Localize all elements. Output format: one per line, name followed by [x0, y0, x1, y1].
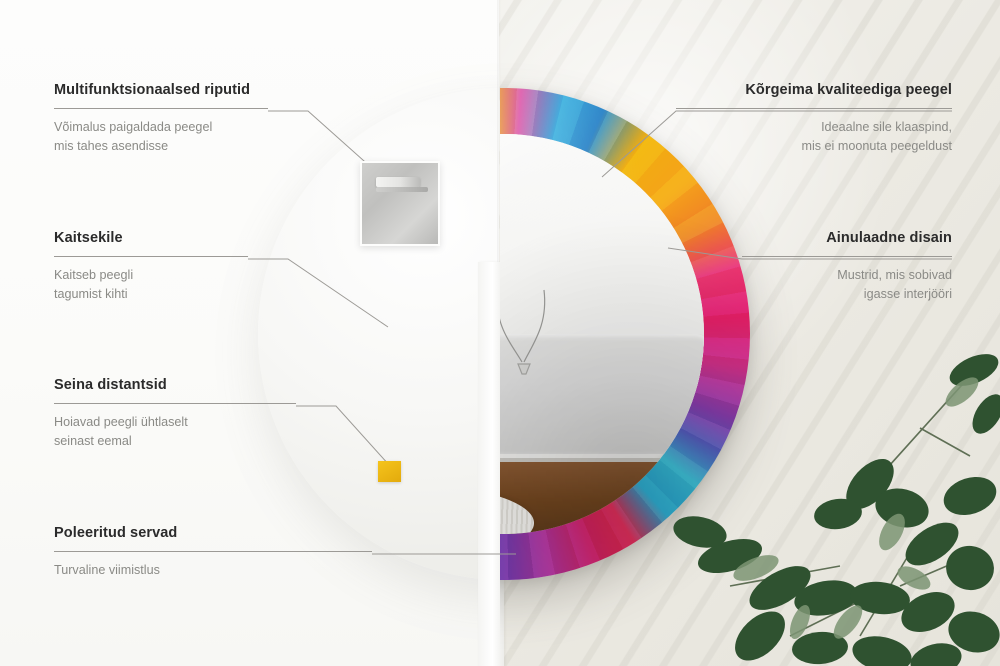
callout-ainulaadne-disain: Ainulaadne disain Mustrid, mis sobivad i… [742, 230, 952, 303]
mirror-glass [500, 134, 704, 534]
callout-kaitsekile: Kaitsekile Kaitseb peegli tagumist kihti [54, 230, 248, 303]
callout-description: Hoiavad peegli ühtlaselt seinast eemal [54, 413, 296, 450]
callout-rule [742, 256, 952, 257]
callout-rule [54, 256, 248, 257]
callout-title: Multifunktsionaalsed riputid [54, 82, 268, 99]
hanger-detail-swatch [360, 161, 440, 246]
wall-spacer-swatch [378, 461, 401, 482]
callout-title: Seina distantsid [54, 377, 296, 394]
callout-description: Kaitseb peegli tagumist kihti [54, 266, 248, 303]
infographic-canvas: Multifunktsionaalsed riputid Võimalus pa… [0, 0, 1000, 666]
callout-description: Mustrid, mis sobivad igasse interjööri [742, 266, 952, 303]
callout-description: Turvaline viimistlus [54, 561, 372, 579]
callout-description: Võimalus paigaldada peegel mis tahes ase… [54, 118, 268, 155]
callout-multifunktsionaalsed-riputid: Multifunktsionaalsed riputid Võimalus pa… [54, 82, 268, 155]
callout-title: Poleeritud servad [54, 525, 372, 542]
mirror-frame [500, 88, 750, 580]
callout-title: Ainulaadne disain [742, 230, 952, 247]
callout-title: Kaitsekile [54, 230, 248, 247]
callout-description: Ideaalne sile klaaspind, mis ei moonuta … [676, 118, 952, 155]
hanger-slot [376, 177, 420, 187]
callout-rule [54, 551, 372, 552]
hanger-slot-shadow [376, 187, 428, 192]
callout-poleeritud-servad: Poleeritud servad Turvaline viimistlus [54, 525, 372, 580]
callout-rule [676, 108, 952, 109]
callout-rule [54, 108, 268, 109]
callout-korgeima-kvaliteediga-peegel: Kõrgeima kvaliteediga peegel Ideaalne si… [676, 82, 952, 155]
callout-title: Kõrgeima kvaliteediga peegel [676, 82, 952, 99]
callout-rule [54, 403, 296, 404]
callout-seina-distantsid: Seina distantsid Hoiavad peegli ühtlasel… [54, 377, 296, 450]
